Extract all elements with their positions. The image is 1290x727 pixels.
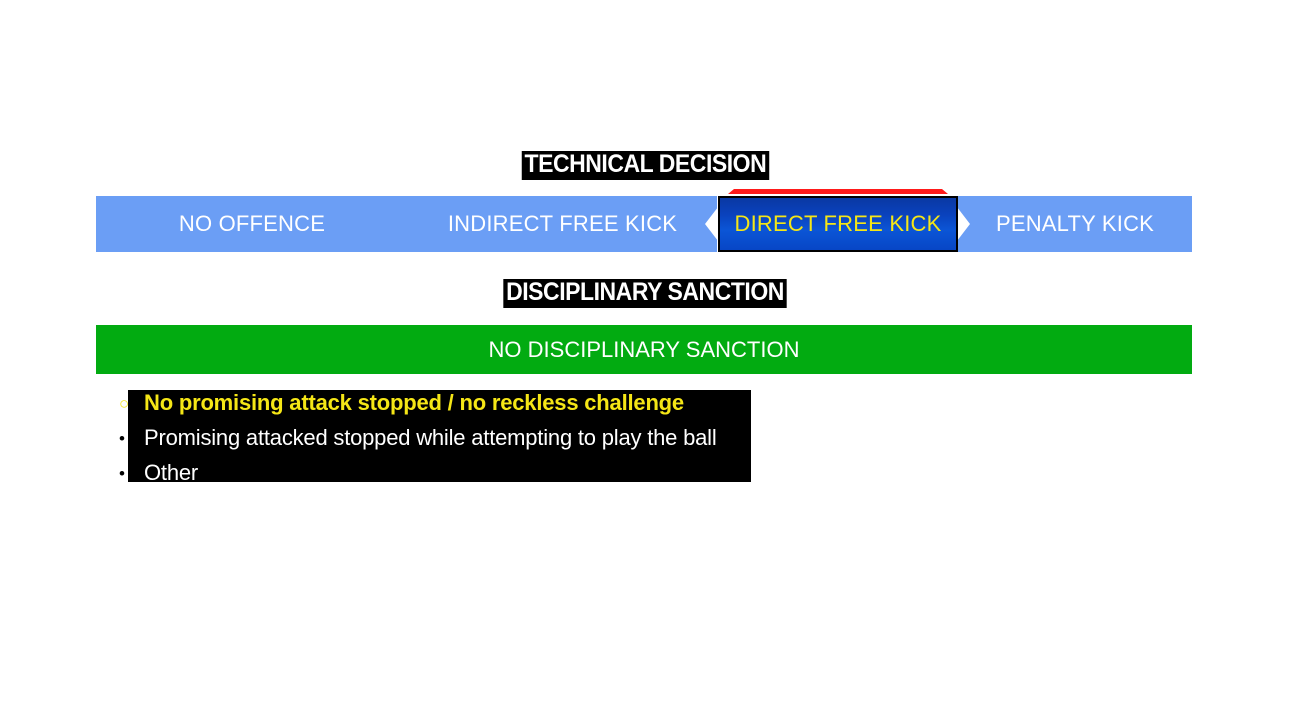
option-no-offence[interactable]: NO OFFENCE bbox=[96, 196, 408, 252]
list-item[interactable]: • Other bbox=[114, 458, 198, 482]
technical-decision-heading: TECHNICAL DECISION bbox=[0, 151, 1290, 180]
option-direct-free-kick[interactable]: DIRECT FREE KICK bbox=[718, 196, 958, 252]
bullet-icon: • bbox=[114, 430, 144, 447]
bullet-icon: • bbox=[114, 465, 144, 482]
list-item-label: Promising attacked stopped while attempt… bbox=[144, 425, 717, 451]
technical-decision-selector: NO OFFENCE INDIRECT FREE KICK DIRECT FRE… bbox=[96, 196, 1192, 252]
list-item-label: Other bbox=[144, 460, 198, 482]
disciplinary-sanction-heading-text: DISCIPLINARY SANCTION bbox=[503, 279, 786, 308]
disciplinary-sanction-heading: DISCIPLINARY SANCTION bbox=[0, 279, 1290, 308]
list-item[interactable]: • Promising attacked stopped while attem… bbox=[114, 423, 717, 453]
bullet-icon: ○ bbox=[114, 395, 144, 412]
option-indirect-free-kick-label: INDIRECT FREE KICK bbox=[448, 211, 677, 237]
option-direct-free-kick-wrapper: DIRECT FREE KICK bbox=[718, 189, 958, 252]
option-penalty-kick[interactable]: PENALTY KICK bbox=[958, 196, 1192, 252]
no-disciplinary-sanction-bar[interactable]: NO DISCIPLINARY SANCTION bbox=[96, 325, 1192, 374]
technical-decision-heading-text: TECHNICAL DECISION bbox=[521, 151, 768, 180]
option-direct-free-kick-label: DIRECT FREE KICK bbox=[735, 211, 942, 237]
selected-option-indicator bbox=[728, 189, 948, 194]
criteria-panel: ○ No promising attack stopped / no reckl… bbox=[114, 390, 754, 485]
option-no-offence-label: NO OFFENCE bbox=[179, 211, 325, 237]
list-item[interactable]: ○ No promising attack stopped / no reckl… bbox=[114, 390, 684, 418]
no-disciplinary-sanction-label: NO DISCIPLINARY SANCTION bbox=[489, 337, 800, 363]
criteria-list: ○ No promising attack stopped / no reckl… bbox=[114, 390, 754, 482]
option-penalty-kick-label: PENALTY KICK bbox=[996, 211, 1154, 237]
option-indirect-free-kick[interactable]: INDIRECT FREE KICK bbox=[408, 196, 717, 252]
list-item-label: No promising attack stopped / no reckles… bbox=[144, 390, 684, 416]
